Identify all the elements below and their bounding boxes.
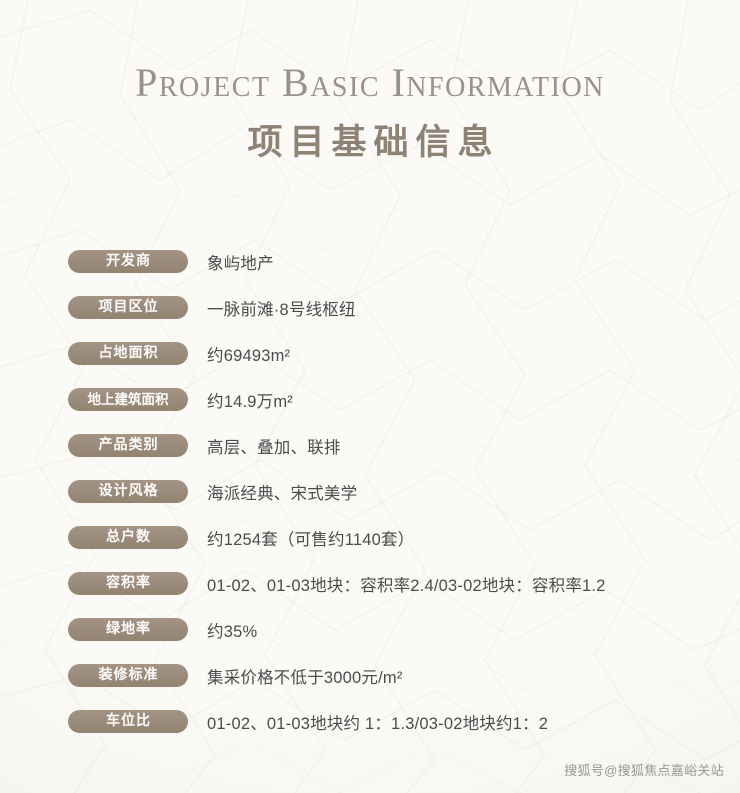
table-row: 占地面积 约69493m² <box>68 331 740 377</box>
table-row: 绿地率 约35% <box>68 607 740 653</box>
row-value-product-type: 高层、叠加、联排 <box>207 434 341 458</box>
page-title-english: Project Basic Information <box>0 62 740 104</box>
table-row: 设计风格 海派经典、宋式美学 <box>68 469 740 515</box>
table-row: 装修标准 集采价格不低于3000元/m² <box>68 653 740 699</box>
page-header: Project Basic Information 项目基础信息 <box>0 0 740 163</box>
row-value-developer: 象屿地产 <box>207 250 274 274</box>
row-label-developer: 开发商 <box>68 250 188 273</box>
row-label-decoration-standard: 装修标准 <box>68 664 188 687</box>
row-value-site-area: 约69493m² <box>207 342 290 366</box>
row-value-plot-ratio: 01-02、01-03地块：容积率2.4/03-02地块：容积率1.2 <box>207 572 606 596</box>
row-value-location: 一脉前滩·8号线枢纽 <box>207 296 356 320</box>
row-label-site-area: 占地面积 <box>68 342 188 365</box>
row-value-green-ratio: 约35% <box>207 618 257 642</box>
table-row: 容积率 01-02、01-03地块：容积率2.4/03-02地块：容积率1.2 <box>68 561 740 607</box>
table-row: 车位比 01-02、01-03地块约 1：1.3/03-02地块约1：2 <box>68 699 740 745</box>
table-row: 开发商 象屿地产 <box>68 239 740 285</box>
table-row: 地上建筑面积 约14.9万m² <box>68 377 740 423</box>
source-watermark: 搜狐号@搜狐焦点嘉峪关站 <box>564 760 724 779</box>
row-value-decoration-standard: 集采价格不低于3000元/m² <box>207 664 403 688</box>
row-label-location: 项目区位 <box>68 296 188 319</box>
row-value-parking-ratio: 01-02、01-03地块约 1：1.3/03-02地块约1：2 <box>207 710 548 734</box>
row-label-green-ratio: 绿地率 <box>68 618 188 641</box>
row-label-total-units: 总户数 <box>68 526 188 549</box>
row-label-plot-ratio: 容积率 <box>68 572 188 595</box>
page-title-chinese: 项目基础信息 <box>0 124 740 163</box>
table-row: 总户数 约1254套（可售约1140套） <box>68 515 740 561</box>
project-info-table: 开发商 象屿地产 项目区位 一脉前滩·8号线枢纽 占地面积 约69493m² 地… <box>0 239 740 745</box>
row-label-parking-ratio: 车位比 <box>68 710 188 733</box>
row-value-total-units: 约1254套（可售约1140套） <box>207 526 414 550</box>
row-label-above-ground-area: 地上建筑面积 <box>68 388 188 411</box>
row-value-above-ground-area: 约14.9万m² <box>207 388 293 412</box>
row-value-design-style: 海派经典、宋式美学 <box>207 480 357 504</box>
row-label-design-style: 设计风格 <box>68 480 188 503</box>
table-row: 产品类别 高层、叠加、联排 <box>68 423 740 469</box>
project-info-page: Project Basic Information 项目基础信息 开发商 象屿地… <box>0 0 740 793</box>
table-row: 项目区位 一脉前滩·8号线枢纽 <box>68 285 740 331</box>
row-label-product-type: 产品类别 <box>68 434 188 457</box>
